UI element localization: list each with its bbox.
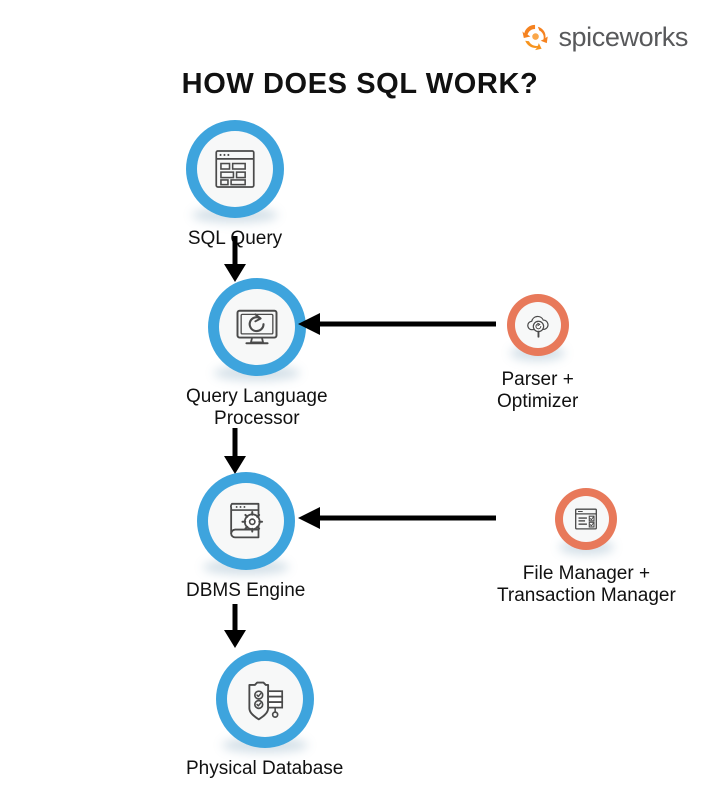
node-parser-optimizer-disc xyxy=(507,294,569,356)
checklist-document-icon xyxy=(571,504,601,534)
node-physical-database-label: Physical Database xyxy=(186,758,343,780)
arrow-file-manager-to-dbms xyxy=(296,500,496,536)
node-physical-database: Physical Database xyxy=(186,650,343,780)
node-dbms-engine: DBMS Engine xyxy=(186,472,305,602)
node-sql-query-disc xyxy=(186,120,284,218)
node-parser-optimizer: Parser + Optimizer xyxy=(497,294,578,414)
node-query-language-processor-disc xyxy=(208,278,306,376)
node-physical-database-disc xyxy=(216,650,314,748)
document-gear-icon xyxy=(221,496,271,546)
shield-database-icon xyxy=(240,674,290,724)
spiceworks-swirl-icon xyxy=(521,22,551,52)
brand-name: spiceworks xyxy=(558,24,688,51)
node-dbms-engine-label: DBMS Engine xyxy=(186,580,305,602)
cloud-magnifier-refresh-icon xyxy=(523,310,553,340)
node-sql-query: SQL Query xyxy=(186,120,284,250)
brand-logo: spiceworks xyxy=(521,22,688,52)
monitor-refresh-icon xyxy=(231,301,283,353)
node-query-language-processor: Query Language Processor xyxy=(186,278,328,431)
arrow-dbms-to-physical-database xyxy=(205,604,265,650)
node-dbms-engine-disc xyxy=(197,472,295,570)
arrow-processor-to-dbms xyxy=(205,428,265,476)
node-file-transaction-manager-label: File Manager + Transaction Manager xyxy=(497,563,676,608)
arrow-parser-to-processor xyxy=(296,306,496,342)
page-title: HOW DOES SQL WORK? xyxy=(0,68,720,101)
arrow-sql-query-to-processor xyxy=(205,236,265,284)
node-query-language-processor-label: Query Language Processor xyxy=(186,386,328,431)
node-parser-optimizer-label: Parser + Optimizer xyxy=(497,369,578,414)
node-file-transaction-manager: File Manager + Transaction Manager xyxy=(497,488,676,608)
browser-form-window-icon xyxy=(210,144,260,194)
node-file-transaction-manager-disc xyxy=(555,488,617,550)
